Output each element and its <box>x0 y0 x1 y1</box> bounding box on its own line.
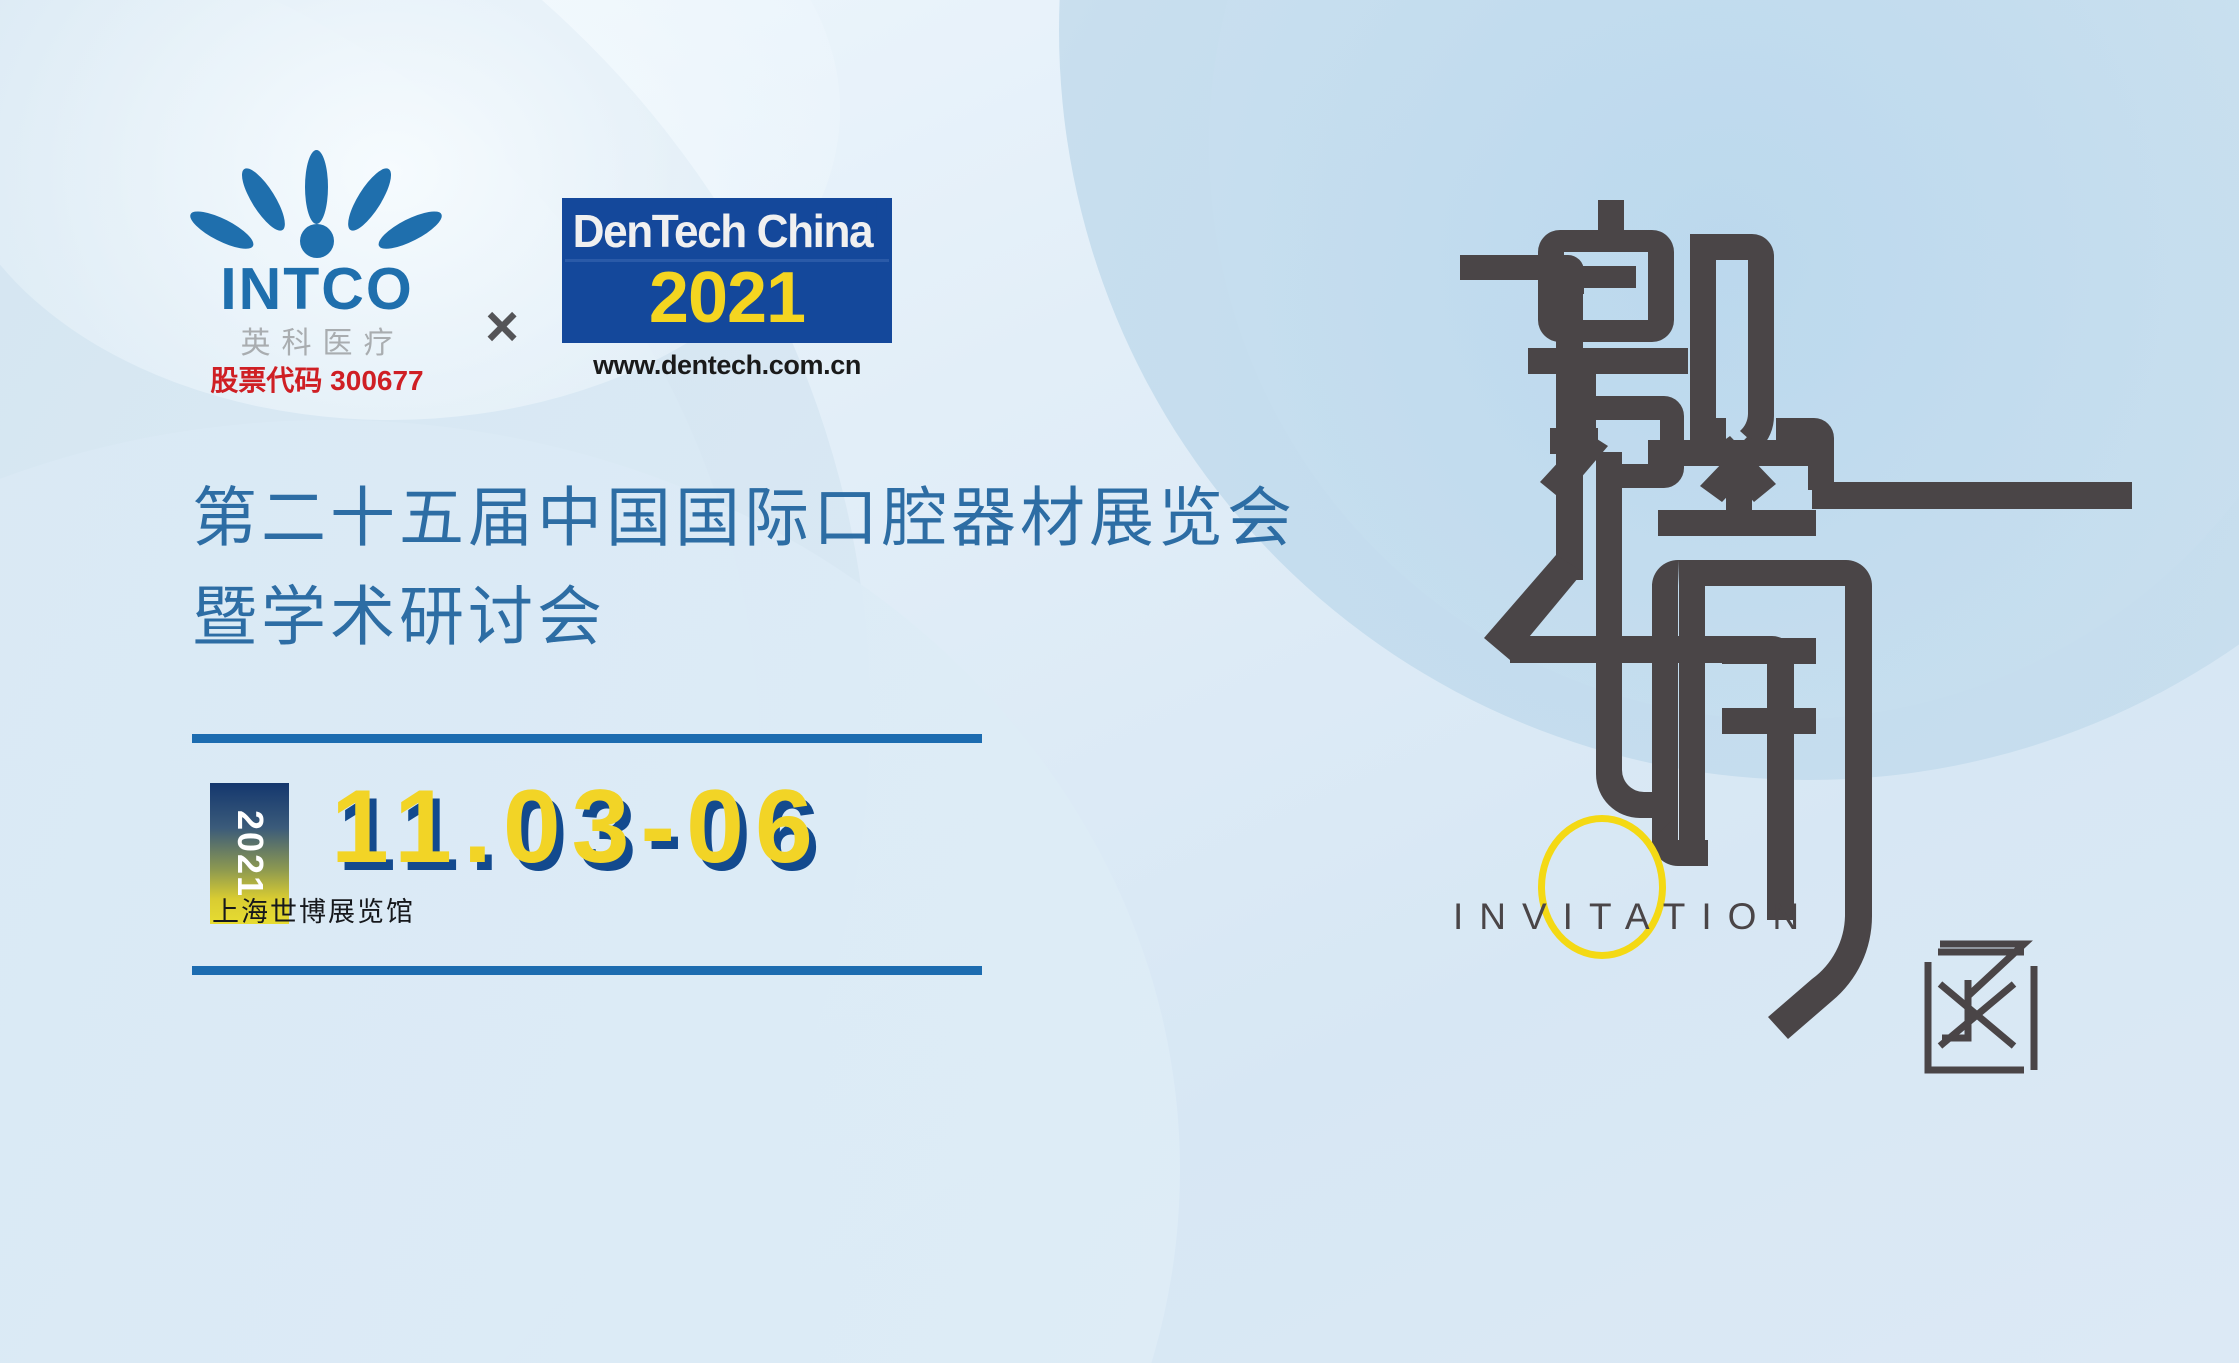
char-han-glyph <box>1928 944 2034 1070</box>
circle-accent <box>1538 815 1666 959</box>
date-band: 2021 11.03-06 上海世博展览馆 <box>192 734 982 975</box>
sunburst-petals-icon <box>192 150 442 258</box>
petal <box>341 163 399 236</box>
dentech-year: 2021 <box>565 259 889 340</box>
date-range: 11.03-06 <box>331 775 824 879</box>
dentech-logo-box: DenTech China 2021 <box>562 198 892 343</box>
petal <box>305 150 328 224</box>
dentech-name: DenTech China <box>565 201 876 259</box>
headline-line-1: 第二十五届中国国际口腔器材展览会 <box>192 469 1552 568</box>
invitation-calligraphy-art: INVITATION <box>1440 200 2180 1160</box>
petal <box>235 163 293 236</box>
intco-wordmark: INTCO <box>192 260 442 319</box>
intco-chinese-name: 英科医疗 <box>192 327 442 360</box>
intco-logo: INTCO 英科医疗 股票代码 300677 <box>192 150 442 397</box>
burst-center-dot <box>300 224 334 258</box>
petal <box>374 204 446 255</box>
calligraphy-svg <box>1440 200 2180 1160</box>
divider-bottom <box>192 966 982 975</box>
logo-row: INTCO 英科医疗 股票代码 300677 × DenTech China 2… <box>192 150 1552 397</box>
poster-canvas: INTCO 英科医疗 股票代码 300677 × DenTech China 2… <box>0 0 2239 1363</box>
page-title: 第二十五届中国国际口腔器材展览会 暨学术研讨会 <box>192 469 1552 667</box>
multiply-icon: × <box>442 298 562 356</box>
dentech-url: www.dentech.com.cn <box>562 351 892 381</box>
dentech-logo: DenTech China 2021 www.dentech.com.cn <box>562 198 892 381</box>
venue-name: 上海世博展览馆 <box>212 896 415 928</box>
headline-line-2: 暨学术研讨会 <box>192 568 1552 667</box>
intco-stock-code: 股票代码 300677 <box>192 366 442 397</box>
content-column: INTCO 英科医疗 股票代码 300677 × DenTech China 2… <box>192 150 1552 975</box>
petal <box>186 204 258 255</box>
invitation-label: INVITATION <box>1453 898 1815 935</box>
divider-bottom-wrap <box>192 966 982 975</box>
year-badge-label: 2021 <box>232 810 268 898</box>
divider-top <box>192 734 982 743</box>
